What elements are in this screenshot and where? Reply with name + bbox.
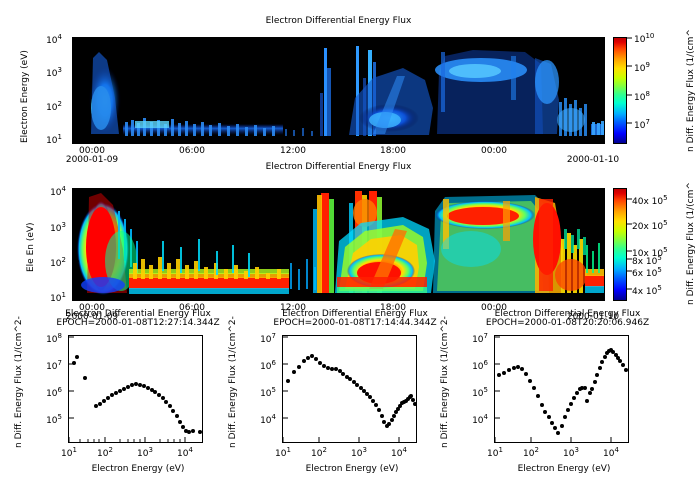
- axis-tickmarks: [0, 0, 697, 492]
